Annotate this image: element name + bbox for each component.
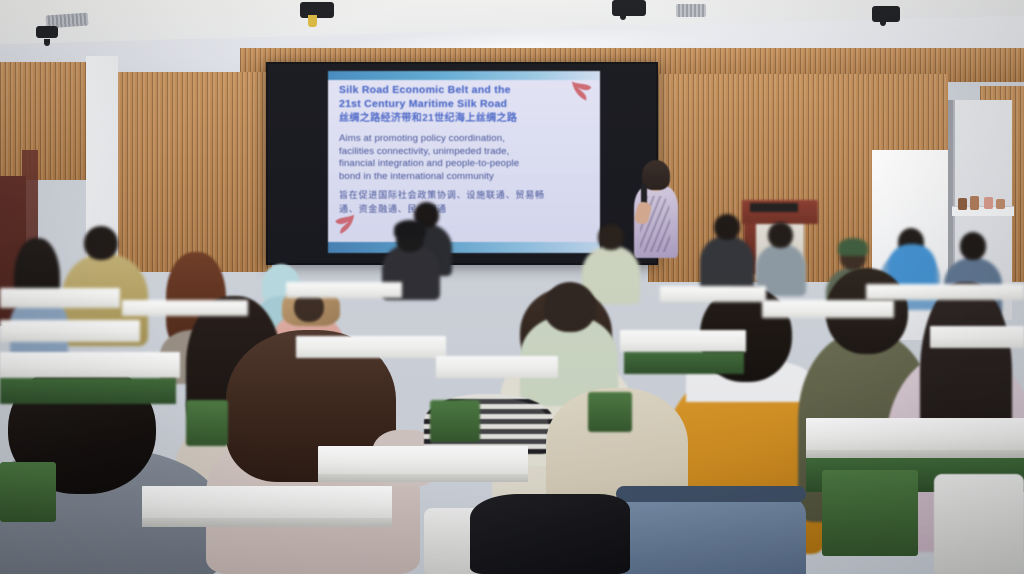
- desk-edge: [142, 518, 392, 527]
- wood-slat-wall-left: [0, 62, 92, 180]
- desk: [436, 356, 558, 378]
- presentation-slide: Silk Road Economic Belt and the 21st Cen…: [328, 71, 600, 253]
- lectern-slot: [750, 203, 798, 212]
- slide-title-chinese: 丝绸之路经济带和21世纪海上丝绸之路: [339, 112, 589, 126]
- desk: [660, 286, 766, 302]
- sill-object: [996, 199, 1005, 209]
- jacket-on-chair: [470, 494, 630, 574]
- desk: [122, 300, 248, 316]
- slide-band-bottom: [328, 242, 600, 253]
- desk: [296, 336, 446, 358]
- sill-object: [984, 197, 993, 209]
- chair: [934, 474, 1024, 574]
- sill-object: [970, 196, 979, 210]
- desk: [0, 352, 180, 378]
- chair: [186, 400, 228, 446]
- track-light-icon: [36, 26, 58, 38]
- desk-underside: [624, 352, 744, 374]
- slide-title-line2: 21st Century Maritime Silk Road: [339, 98, 589, 112]
- desk: [142, 486, 392, 520]
- desk: [0, 320, 140, 342]
- desk: [0, 288, 120, 308]
- slide-title-line1: Silk Road Economic Belt and the: [339, 84, 589, 98]
- desk: [318, 446, 528, 476]
- desk: [806, 418, 1024, 452]
- window-mullion: [948, 100, 953, 285]
- desk: [866, 284, 1024, 300]
- chair: [822, 470, 918, 556]
- slide-body-line3: financial integration and people-to-peop…: [339, 158, 589, 171]
- desk: [930, 326, 1024, 348]
- slide-body-line2: facilities connectivity, unimpeded trade…: [339, 146, 589, 159]
- chair: [0, 462, 56, 522]
- slide-body-line4: bond in the international community: [339, 171, 589, 184]
- slide-body-chinese-line2: 通、资金融通、民心相通: [339, 203, 589, 217]
- desk: [620, 330, 746, 352]
- ceiling-vent: [676, 4, 706, 17]
- desk-underside: [0, 378, 176, 404]
- track-light-icon: [872, 6, 900, 22]
- desk-edge: [318, 474, 528, 482]
- desk: [286, 282, 402, 298]
- desk: [762, 300, 894, 318]
- slide-band-top: [328, 71, 600, 80]
- belt: [616, 486, 806, 502]
- slide-body-line1: Aims at promoting policy coordination,: [339, 133, 589, 146]
- track-light-icon: [300, 2, 334, 18]
- lecture-hall-photo: Silk Road Economic Belt and the 21st Cen…: [0, 0, 1024, 574]
- chair: [430, 400, 480, 442]
- chair: [588, 392, 632, 432]
- sill-object: [958, 198, 967, 210]
- slide-body-chinese-line1: 旨在促进国际社会政策协调、设施联通、贸易畅: [339, 189, 589, 203]
- wood-slat-wall-left-main: [112, 72, 272, 272]
- track-light-icon: [612, 0, 646, 16]
